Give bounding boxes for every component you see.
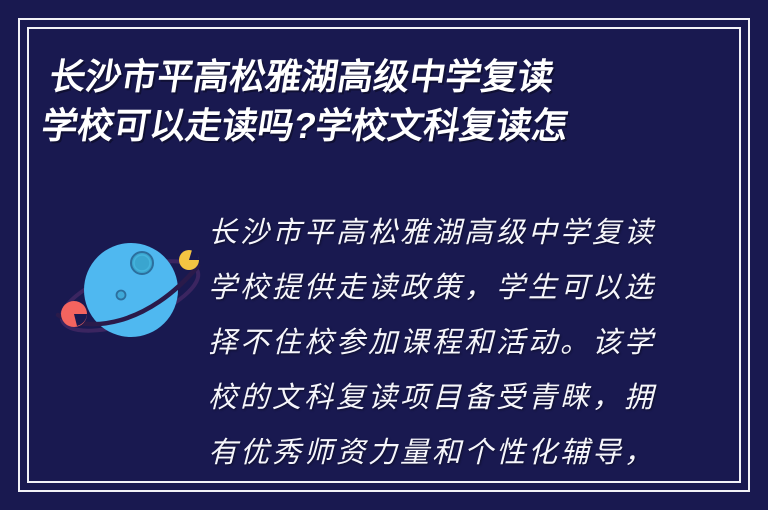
page-title-line-2: 学校可以走读吗?学校文科复读怎 (38, 101, 736, 150)
poster-canvas: 长沙市平高松雅湖高级中学复读 学校可以走读吗?学校文科复读怎 (0, 0, 768, 510)
page-title-line-1: 长沙市平高松雅湖高级中学复读 (46, 52, 744, 101)
body-paragraph: 长沙市平高松雅湖高级中学复读学校提供走读政策，学生可以选择不住校参加课程和活动。… (208, 205, 660, 480)
planet-crater-small (117, 291, 126, 300)
planet-icon (52, 222, 208, 362)
planet-illustration (52, 222, 208, 362)
orbit-dot-left (61, 301, 87, 327)
page-title: 长沙市平高松雅湖高级中学复读 学校可以走读吗?学校文科复读怎 (38, 52, 744, 150)
orbit-dot-right (179, 250, 199, 270)
